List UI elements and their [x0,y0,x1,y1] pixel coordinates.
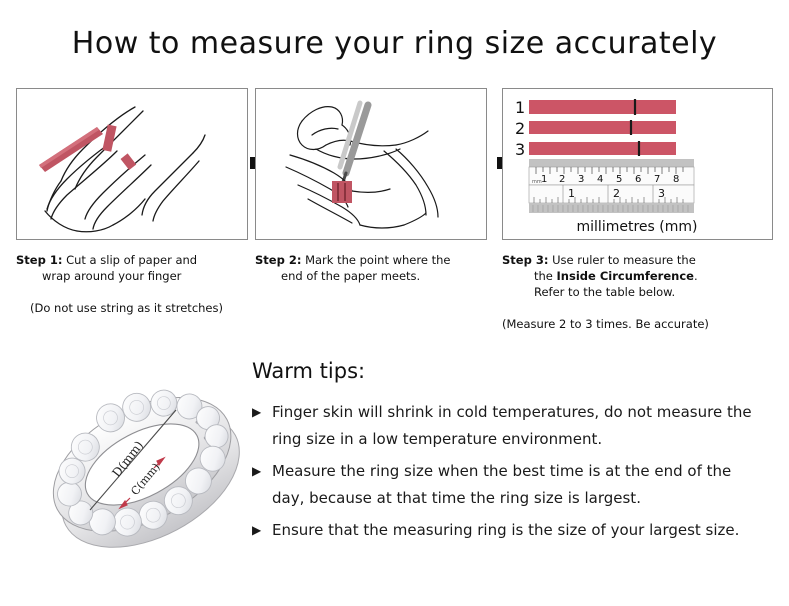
paper-slip-wrapped [102,124,136,170]
svg-text:2: 2 [515,119,525,138]
step1-line2: wrap around your finger [16,268,248,284]
step3-caption: Step 3: Use ruler to measure the the Ins… [502,252,773,300]
tip-text: Ensure that the measuring ring is the si… [272,521,739,539]
step1-note: (Do not use string as it stretches) [16,300,248,316]
tip-item: ▶ Finger skin will shrink in cold temper… [252,399,752,453]
svg-text:8: 8 [673,174,679,185]
step1-line1: Cut a slip of paper and [66,253,197,267]
svg-text:3: 3 [578,174,584,185]
ruler-measuring-strips-illustration: 1 2 3 [503,89,772,239]
step-column-1: Step 1: Cut a slip of paper and wrap aro… [16,88,248,316]
step1-label: Step 1: [16,253,62,267]
step3-line1: Use ruler to measure the [552,253,696,267]
step1-caption: Step 1: Cut a slip of paper and wrap aro… [16,252,248,284]
svg-text:7: 7 [654,174,660,185]
bullet-triangle-icon: ▶ [252,458,261,485]
step3-line2-bold: Inside Circumference [557,269,694,283]
paper-slip-marked [332,181,352,203]
step2-line2: end of the paper meets. [255,268,487,284]
steps-row: Step 1: Cut a slip of paper and wrap aro… [16,88,773,338]
tip-item: ▶ Ensure that the measuring ring is the … [252,517,752,544]
eternity-ring-illustration: D(mm) C(mm) [28,350,260,585]
step3-line3: Refer to the table below. [502,284,773,300]
tip-text: Measure the ring size when the best time… [272,462,731,507]
warm-tips-block: Warm tips: ▶ Finger skin will shrink in … [252,359,752,549]
ruler: mm 1 2 3 4 5 6 7 8 1 2 3 [529,159,694,213]
tip-text: Finger skin will shrink in cold temperat… [272,403,752,448]
step2-line1: Mark the point where the [305,253,450,267]
tip-item: ▶ Measure the ring size when the best ti… [252,458,752,512]
svg-text:4: 4 [597,174,603,185]
hand-with-paper-slip-illustration [17,89,247,239]
step3-label: Step 3: [502,253,548,267]
step3-line2-pre: the [534,269,557,283]
step3-note: (Measure 2 to 3 times. Be accurate) [502,316,773,332]
svg-text:3: 3 [515,140,525,159]
paper-slip-loose [39,127,103,172]
step3-line2-post: . [694,269,698,283]
bullet-triangle-icon: ▶ [252,517,261,544]
svg-text:2: 2 [613,187,620,200]
page-title: How to measure your ring size accurately [0,26,789,61]
svg-text:1: 1 [541,174,547,185]
step-column-2: Step 2: Mark the point where the end of … [255,88,487,284]
step2-label: Step 2: [255,253,301,267]
bottom-row: D(mm) C(mm) Warm tips: ▶ Finger skin wil… [0,345,789,605]
step-column-3: 1 2 3 [502,88,773,332]
ruler-unit-caption: millimetres (mm) [577,219,698,235]
svg-text:1: 1 [515,98,525,117]
step1-panel [16,88,248,240]
bullet-triangle-icon: ▶ [252,399,261,426]
svg-text:6: 6 [635,174,641,185]
step2-panel [255,88,487,240]
marking-paper-with-pen-illustration [256,89,486,239]
svg-text:1: 1 [568,187,575,200]
svg-text:3: 3 [658,187,665,200]
svg-text:5: 5 [616,174,622,185]
ring-diagram: D(mm) C(mm) [28,350,260,585]
step2-caption: Step 2: Mark the point where the end of … [255,252,487,284]
step3-panel: 1 2 3 [502,88,773,240]
svg-text:2: 2 [559,174,565,185]
warm-tips-heading: Warm tips: [252,359,752,383]
